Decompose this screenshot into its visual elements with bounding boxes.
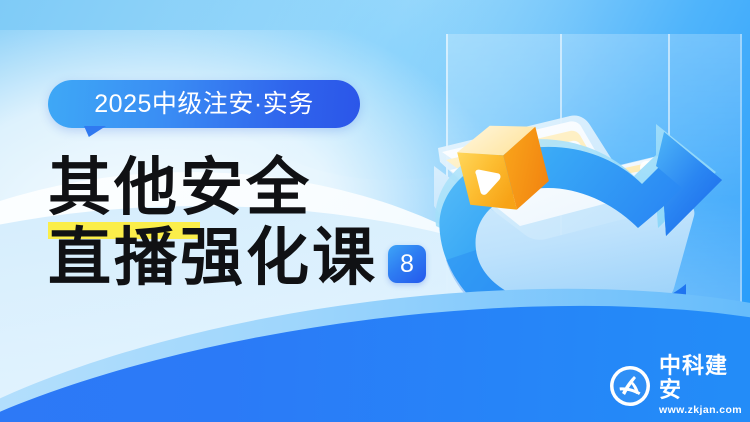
episode-number-badge: 8	[388, 245, 426, 283]
subject-badge-tail	[84, 126, 106, 137]
course-cover-poster: 2025中级注安·实务 其他安全 直播强化课 8 中科建安 www.zkjan.…	[0, 0, 750, 422]
headline-block: 其他安全 直播强化课 8	[48, 152, 426, 292]
folder-arrow-cube-illustration	[420, 20, 750, 350]
headline-row-2: 直播强化课 8	[48, 222, 426, 292]
zkjan-circle-logo-icon	[610, 366, 650, 406]
brand-logo: 中科建安 www.zkjan.com	[610, 355, 750, 417]
brand-url: www.zkjan.com	[659, 403, 750, 417]
brand-logo-text: 中科建安 www.zkjan.com	[659, 355, 750, 417]
illustration-svg	[420, 20, 750, 350]
subject-badge-label: 2025中级注安·实务	[94, 92, 313, 117]
headline-line-2: 直播强化课	[48, 222, 378, 292]
headline-row-1: 其他安全	[48, 152, 426, 222]
subject-badge: 2025中级注安·实务	[48, 80, 360, 128]
logo-mark-svg	[613, 369, 647, 403]
headline-line-1: 其他安全	[48, 152, 312, 222]
subject-badge-pill: 2025中级注安·实务	[48, 80, 360, 128]
brand-name: 中科建安	[659, 355, 750, 403]
